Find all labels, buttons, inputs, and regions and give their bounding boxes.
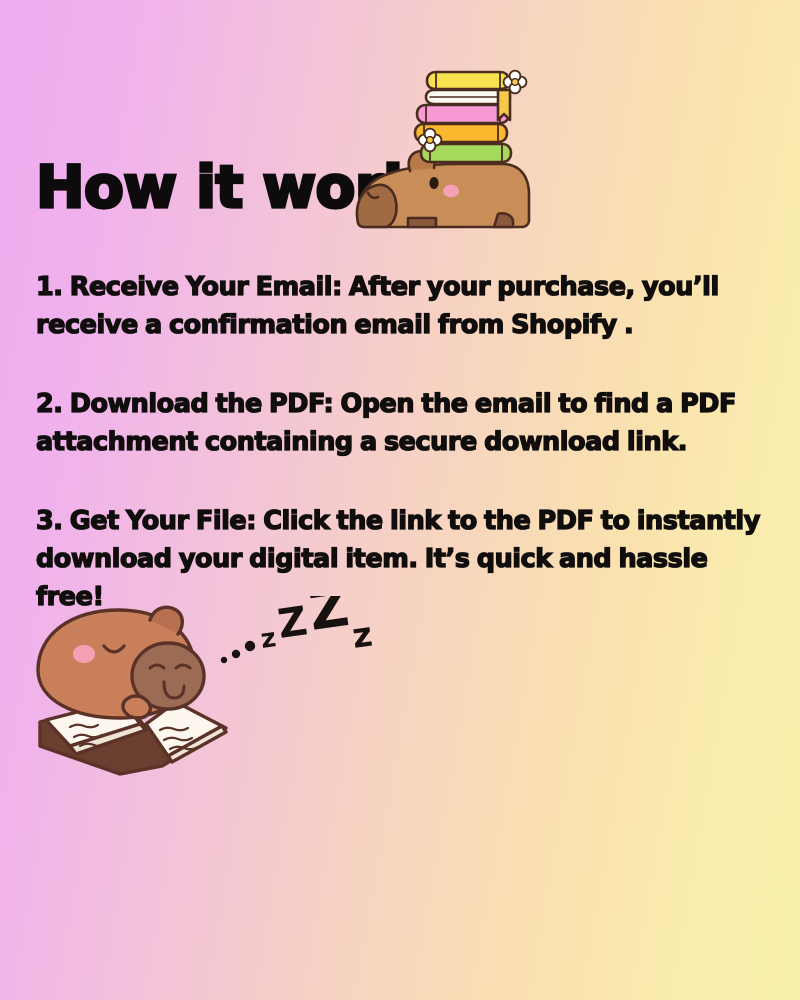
sleeping-capybara-svg: z Z Z z <box>28 596 448 796</box>
capybara-eye <box>429 177 438 189</box>
sleeping-capybara-paw <box>123 696 150 718</box>
step-item-2: 2. Download the PDF: Open the email to f… <box>36 385 764 461</box>
capybara-blush <box>443 185 459 198</box>
zzz-dot-1 <box>221 657 227 663</box>
poster-canvas: How it works <box>0 0 800 1000</box>
capybara-with-book-stack-illustration <box>352 52 552 242</box>
step-item-3: 3. Get Your File: Click the link to the … <box>36 502 764 616</box>
book-pink <box>417 105 509 123</box>
steps-list: 1. Receive Your Email: After your purcha… <box>36 268 764 616</box>
bookmark-ribbon <box>498 90 510 120</box>
capybara-front-foot <box>408 218 436 227</box>
capybara-with-book-stack-svg <box>352 52 552 242</box>
sleeping-capybara-illustration: z Z Z z <box>28 596 448 796</box>
zzz-letter-4: z <box>350 615 375 657</box>
sleeping-capybara-blush <box>73 645 95 663</box>
step-item-1: 1. Receive Your Email: After your purcha… <box>36 268 764 344</box>
zzz-letter-1: z <box>259 623 278 655</box>
zzz-dot-3 <box>245 641 255 651</box>
zzz-dot-2 <box>232 650 240 658</box>
capybara-back-foot <box>494 213 513 227</box>
book-yellow <box>427 72 509 89</box>
